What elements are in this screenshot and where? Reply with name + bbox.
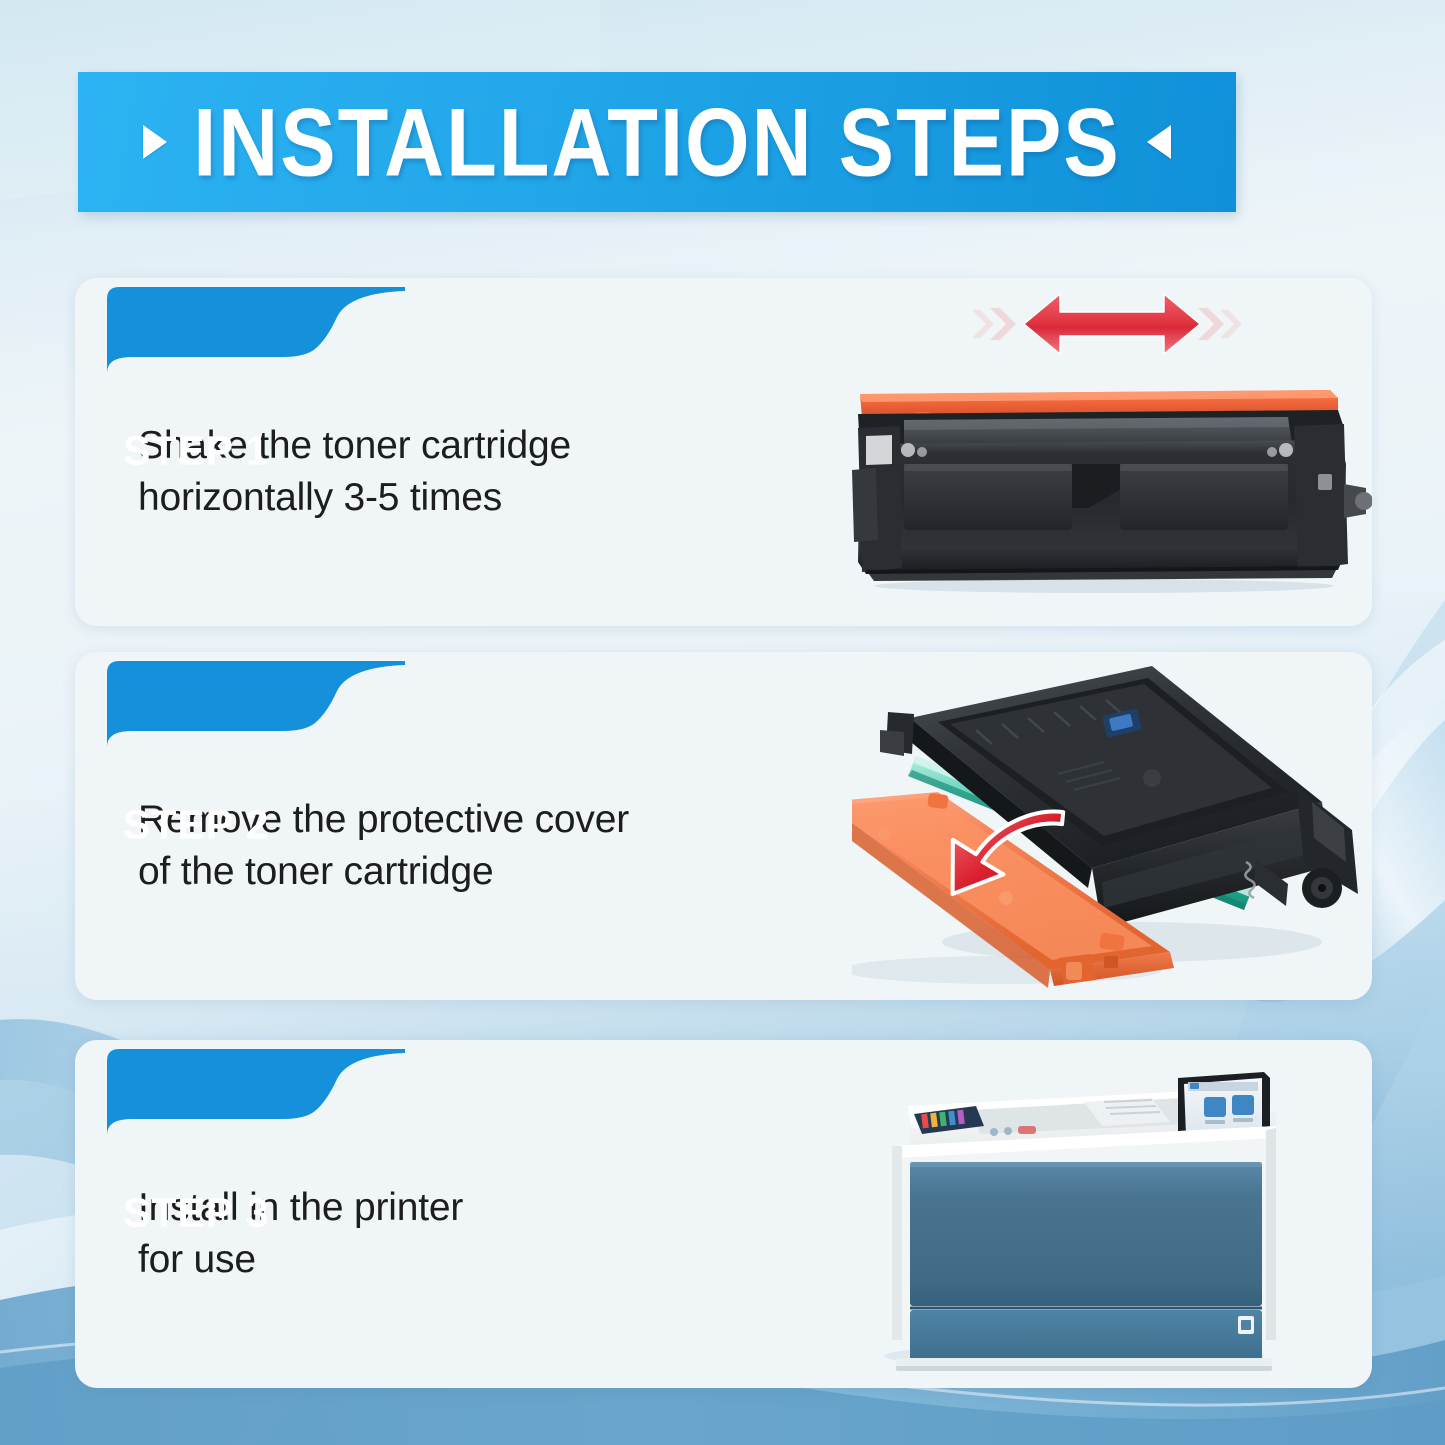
- step-text-line: horizontally 3-5 times: [138, 472, 798, 524]
- step-text-line: Shake the toner cartridge: [138, 420, 798, 472]
- laser-printer: [892, 1072, 1276, 1371]
- step-figure-remove-cover: [852, 652, 1372, 1000]
- triangle-right-icon: [143, 125, 167, 159]
- page-header-banner: INSTALLATION STEPS: [78, 72, 1236, 212]
- step-tab-2: [87, 661, 405, 747]
- step-figure-printer: [852, 1040, 1372, 1388]
- step-text-line: for use: [138, 1234, 798, 1286]
- installation-steps-page: INSTALLATION STEPS STEP 1 Shake the tone…: [0, 0, 1445, 1445]
- page-title: INSTALLATION STEPS: [193, 94, 1120, 190]
- step-text-line: Remove the protective cover: [138, 794, 798, 846]
- toner-cartridge: [852, 390, 1372, 593]
- double-headed-arrow-icon: [1024, 294, 1200, 354]
- step-text-line: of the toner cartridge: [138, 846, 798, 898]
- step-description-2: Remove the protective cover of the toner…: [138, 794, 798, 898]
- step-card-1: STEP 1 Shake the toner cartridge horizon…: [75, 278, 1372, 626]
- step-figure-toner-shake: [852, 278, 1372, 626]
- step-card-3: STEP 3 Install in the printer for use: [75, 1040, 1372, 1388]
- step-description-3: Install in the printer for use: [138, 1182, 798, 1286]
- step-description-1: Shake the toner cartridge horizontally 3…: [138, 420, 798, 524]
- step-tab-3: [87, 1049, 405, 1135]
- step-tab-1: [87, 287, 405, 373]
- step-card-2: STEP 2 Remove the protective cover of th…: [75, 652, 1372, 1000]
- step-text-line: Install in the printer: [138, 1182, 798, 1234]
- triangle-left-icon: [1147, 125, 1171, 159]
